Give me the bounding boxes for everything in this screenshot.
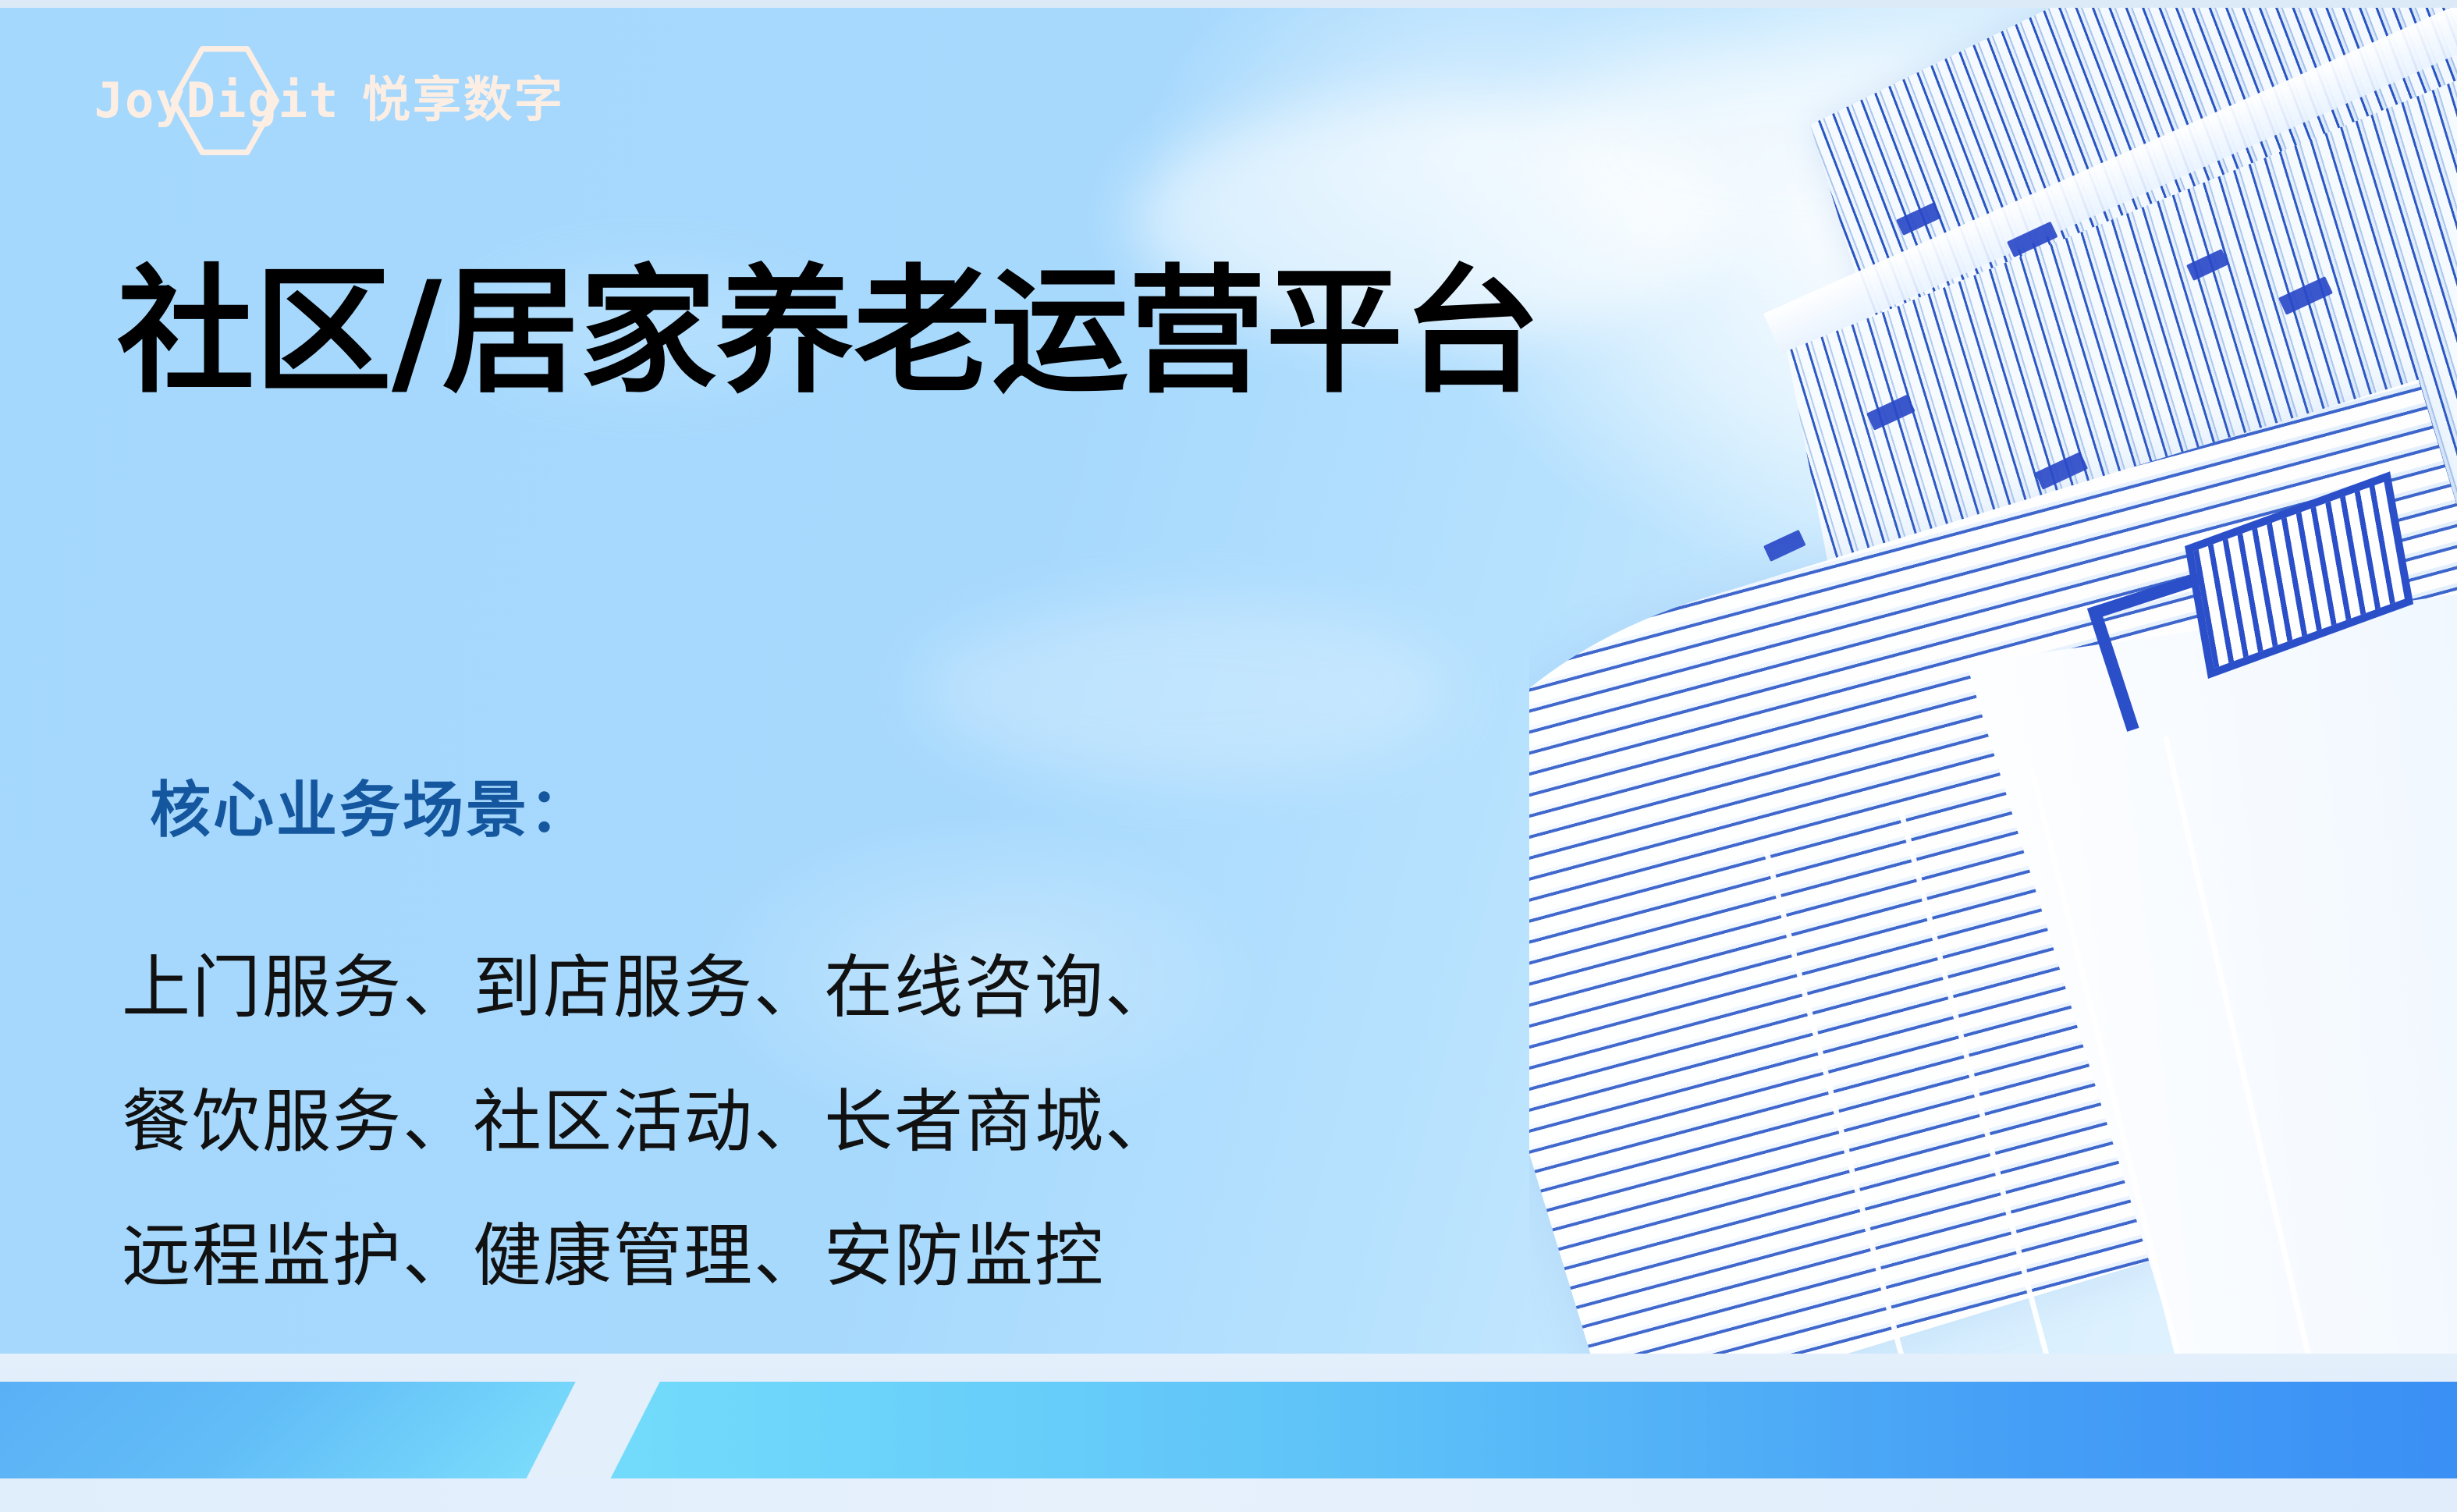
top-edge-strip <box>0 0 2457 8</box>
footer-base-strip <box>0 1478 2457 1512</box>
logo-wordmark-cn: 悦享数字 <box>362 76 565 125</box>
slide-canvas: JoyDigit 悦享数字 社区/居家养老运营平台 核心业务场景： 上门服务、到… <box>0 0 2457 1512</box>
brand-logo[interactable]: JoyDigit 悦享数字 <box>137 66 565 136</box>
cloud-wisp <box>921 601 1451 780</box>
scenario-line: 上门服务、到店服务、在线咨询、 <box>122 921 1175 1055</box>
section-heading: 核心业务场景： <box>150 780 592 841</box>
footer-banner <box>0 1354 2457 1512</box>
scenario-list: 上门服务、到店服务、在线咨询、 餐饮服务、社区活动、长者商城、 远程监护、健康管… <box>122 921 1175 1323</box>
scenario-line: 远程监护、健康管理、安防监控 <box>122 1189 1175 1323</box>
window-accent <box>1763 530 1806 562</box>
logo-mark: JoyDigit <box>137 62 301 140</box>
page-title: 社区/居家养老运营平台 <box>117 264 1540 401</box>
scenario-line: 餐饮服务、社区活动、长者商城、 <box>122 1055 1175 1189</box>
logo-wordmark: JoyDigit <box>94 76 340 125</box>
skyscraper-photo <box>1529 8 2457 1354</box>
